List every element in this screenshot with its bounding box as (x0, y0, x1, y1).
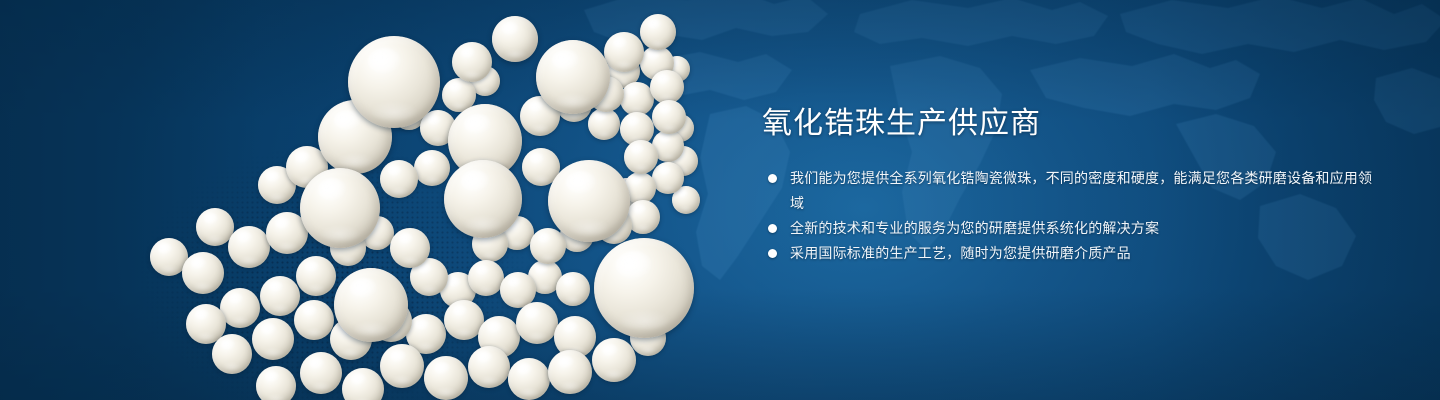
list-item: 采用国际标准的生产工艺，随时为您提供研磨介质产品 (762, 241, 1382, 266)
list-item-label: 全新的技术和专业的服务为您的研磨提供系统化的解决方案 (790, 220, 1159, 236)
feature-list: 我们能为您提供全系列氧化锆陶瓷微珠，不同的密度和硬度，能满足您各类研磨设备和应用… (762, 166, 1382, 266)
zirconia-bead (556, 272, 590, 306)
zirconia-bead (294, 300, 334, 340)
bullet-circle-icon (768, 249, 777, 258)
zirconia-bead (296, 256, 336, 296)
list-item: 全新的技术和专业的服务为您的研磨提供系统化的解决方案 (762, 216, 1382, 241)
page-title: 氧化锆珠生产供应商 (762, 104, 1382, 144)
zirconia-bead (530, 228, 566, 264)
zirconia-bead (650, 70, 684, 104)
zirconia-bead (592, 338, 636, 382)
zirconia-bead (536, 40, 610, 114)
zirconia-bead (652, 100, 686, 134)
zirconia-bead (220, 288, 260, 328)
zirconia-bead (444, 160, 522, 238)
list-item-label: 我们能为您提供全系列氧化锆陶瓷微珠，不同的密度和硬度，能满足您各类研磨设备和应用… (790, 170, 1372, 211)
zirconia-bead (260, 276, 300, 316)
zirconia-bead (228, 226, 270, 268)
zirconia-bead (380, 344, 424, 388)
zirconia-bead (508, 358, 550, 400)
zirconia-bead (300, 168, 380, 248)
zirconia-bead (182, 252, 224, 294)
hero-banner: 氧化锆珠生产供应商 我们能为您提供全系列氧化锆陶瓷微珠，不同的密度和硬度，能满足… (0, 0, 1440, 400)
zirconia-bead (380, 160, 418, 198)
zirconia-bead (620, 82, 654, 116)
zirconia-bead (594, 238, 694, 338)
zirconia-bead (334, 268, 408, 342)
zirconia-bead (342, 368, 384, 400)
zirconia-bead (604, 32, 644, 72)
zirconia-bead (492, 16, 538, 62)
list-item-label: 采用国际标准的生产工艺，随时为您提供研磨介质产品 (790, 245, 1131, 261)
zirconia-bead (212, 334, 252, 374)
zirconia-bead (390, 228, 430, 268)
zirconia-bead (548, 350, 592, 394)
bullet-circle-icon (768, 224, 777, 233)
list-item: 我们能为您提供全系列氧化锆陶瓷微珠，不同的密度和硬度，能满足您各类研磨设备和应用… (762, 166, 1382, 216)
zirconia-bead (624, 140, 658, 174)
zirconia-bead (468, 346, 510, 388)
zirconia-bead (468, 260, 504, 296)
zirconia-bead (516, 302, 558, 344)
zirconia-bead (300, 352, 342, 394)
zirconia-bead (452, 42, 492, 82)
zirconia-bead (588, 108, 620, 140)
zirconia-bead (252, 318, 294, 360)
zirconia-bead (414, 150, 450, 186)
zirconia-bead (424, 356, 468, 400)
zirconia-bead (640, 14, 676, 50)
zirconia-bead (652, 162, 684, 194)
bullet-circle-icon (768, 174, 777, 183)
zirconia-bead (548, 160, 630, 242)
zirconia-bead (256, 366, 296, 400)
zirconia-bead (348, 36, 440, 128)
banner-copy: 氧化锆珠生产供应商 我们能为您提供全系列氧化锆陶瓷微珠，不同的密度和硬度，能满足… (762, 104, 1382, 266)
